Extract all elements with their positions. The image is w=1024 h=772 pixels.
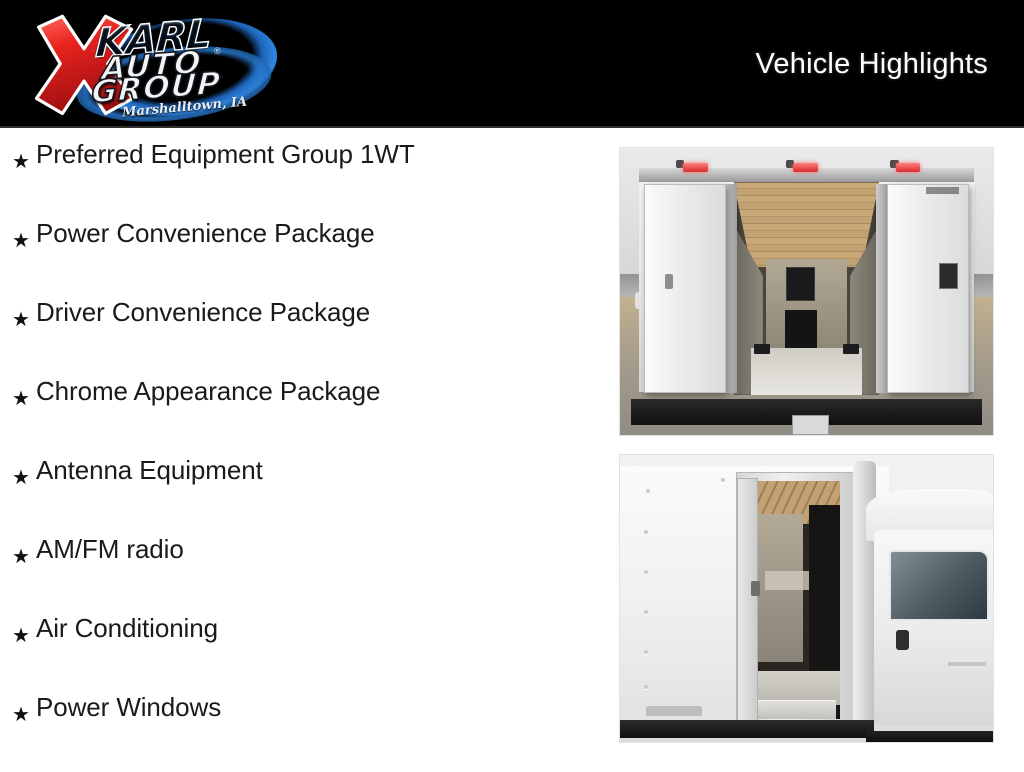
list-item: ★ Preferred Equipment Group 1WT [0, 140, 600, 219]
feature-label: Driver Convenience Package [36, 298, 370, 327]
clearance-light-right [896, 163, 920, 172]
list-item: ★ Driver Convenience Package [0, 298, 600, 377]
star-bullet-icon: ★ [12, 389, 36, 409]
feature-label: Preferred Equipment Group 1WT [36, 140, 415, 169]
clearance-light-left [683, 163, 707, 172]
star-bullet-icon: ★ [12, 310, 36, 330]
cargo-floor [751, 348, 862, 395]
body-builder-decal [926, 187, 960, 194]
karl-auto-group-logo[interactable]: KARL ® AUTO GROUP Marshalltown, IA [18, 4, 278, 128]
cab-rocker-trim [866, 731, 993, 742]
vehicle-highlights-list: ★ Preferred Equipment Group 1WT ★ Power … [0, 140, 600, 772]
left-door-edge [724, 184, 737, 394]
cargo-wheel-well-left [754, 344, 770, 355]
feature-label: Power Convenience Package [36, 219, 375, 248]
feature-label: AM/FM radio [36, 535, 184, 564]
box-rocker-trim [620, 720, 874, 737]
photo-box-truck-side-door-open[interactable] [620, 455, 993, 742]
list-item: ★ AM/FM radio [0, 535, 600, 614]
interior-shadow [809, 505, 840, 686]
photo-box-truck-rear-doors-open[interactable] [620, 148, 993, 435]
cargo-door-left [644, 184, 726, 394]
interior-step-plate [752, 700, 836, 719]
rear-view-scene [620, 148, 993, 435]
cargo-wheel-well-right [843, 344, 859, 355]
panel-rivet [644, 685, 648, 689]
cargo-door-right [887, 184, 969, 394]
clearance-light-center [793, 163, 817, 172]
list-item: ★ Chrome Appearance Package [0, 377, 600, 456]
side-door-panel [737, 478, 758, 722]
feature-label: Air Conditioning [36, 614, 218, 643]
list-item: ★ Antenna Equipment [0, 456, 600, 535]
cab-window [889, 550, 990, 622]
cargo-front-vent [785, 310, 817, 348]
side-door-handle [751, 581, 760, 595]
star-bullet-icon: ★ [12, 626, 36, 646]
body-builder-decal [646, 706, 702, 716]
feature-label: Antenna Equipment [36, 456, 263, 485]
cargo-front-window [786, 267, 815, 301]
cab-body-line [948, 662, 985, 667]
star-bullet-icon: ★ [12, 547, 36, 567]
feature-label: Power Windows [36, 693, 221, 722]
list-item: ★ Power Convenience Package [0, 219, 600, 298]
page-header: KARL ® AUTO GROUP Marshalltown, IA Vehic… [0, 0, 1024, 128]
side-view-scene [620, 455, 993, 742]
hitch-plate [792, 415, 829, 435]
cargo-opening [734, 182, 879, 394]
cab-door-handle [896, 630, 909, 650]
logo-registered-mark: ® [214, 46, 221, 56]
cargo-door-handle-left [665, 274, 673, 288]
list-item: ★ Air Conditioning [0, 614, 600, 693]
star-bullet-icon: ★ [12, 468, 36, 488]
star-bullet-icon: ★ [12, 152, 36, 172]
star-bullet-icon: ★ [12, 231, 36, 251]
panel-rivet [721, 478, 725, 482]
feature-label: Chrome Appearance Package [36, 377, 380, 406]
door-placard [939, 263, 958, 289]
star-bullet-icon: ★ [12, 705, 36, 725]
list-item: ★ Power Windows [0, 693, 600, 772]
cargo-wood-ceiling [734, 182, 879, 267]
page-title: Vehicle Highlights [755, 48, 988, 81]
panel-rivet [644, 530, 648, 534]
side-door-opening [749, 481, 840, 719]
